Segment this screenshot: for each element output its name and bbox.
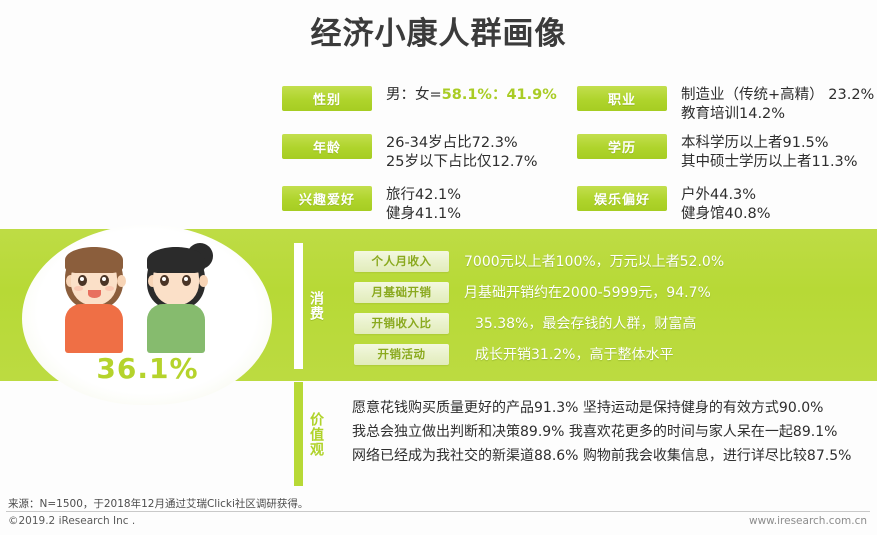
gender-ratio-highlight: 58.1%：41.9% bbox=[442, 87, 557, 103]
consumption-row: 月基础开销 月基础开销约在2000-5999元，94.7% bbox=[354, 281, 874, 303]
attribute-label-entertainment: 娱乐偏好 bbox=[577, 186, 667, 211]
attribute-line: 户外44.3% bbox=[681, 186, 771, 205]
values-line: 我总会独立做出判断和决策89.9% 我喜欢花更多的时间与家人呆在一起89.1% bbox=[352, 420, 877, 444]
eye-shape bbox=[78, 275, 87, 286]
attribute-label-gender: 性别 bbox=[282, 86, 372, 111]
ear-shape bbox=[117, 275, 126, 287]
top-attributes-grid: 性别 男：女=58.1%：41.9% 年龄 26-34岁占比72.3% 25岁以… bbox=[282, 86, 877, 226]
values-line: 愿意花钱购买质量更好的产品91.3% 坚持运动是保持健身的有效方式90.0% bbox=[352, 396, 877, 420]
gender-prefix: 男：女= bbox=[386, 87, 442, 103]
avatar-group bbox=[55, 243, 240, 353]
attribute-line: 旅行42.1% bbox=[386, 186, 461, 205]
consumption-label-spend-activity: 开销活动 bbox=[354, 344, 449, 365]
category-tab-values-char: 价值观 bbox=[308, 412, 324, 457]
eye-shape bbox=[160, 275, 169, 286]
consumption-value-basic-spend: 月基础开销约在2000-5999元，94.7% bbox=[464, 282, 711, 302]
ear-shape bbox=[199, 275, 208, 287]
category-tab-consumption: 消费 bbox=[303, 263, 329, 349]
attribute-row-occupation: 职业 制造业（传统+高精） 23.2% 教育培训14.2% bbox=[577, 86, 874, 124]
consumption-row: 个人月收入 7000元以上者100%，万元以上者52.0% bbox=[354, 250, 874, 272]
blush-shape bbox=[74, 286, 83, 291]
infographic-page: 经济小康人群画像 性别 男：女=58.1%：41.9% 年龄 26-34岁占比7… bbox=[0, 0, 877, 535]
category-tab-consumption-char: 消费 bbox=[308, 291, 324, 321]
attribute-line: 25岁以下占比仅12.7% bbox=[386, 153, 538, 172]
attribute-row-gender: 性别 男：女=58.1%：41.9% bbox=[282, 86, 557, 111]
consumption-label-monthly-income: 个人月收入 bbox=[354, 251, 449, 272]
torso-shape bbox=[147, 304, 205, 353]
eye-shape bbox=[100, 275, 109, 286]
attribute-value-entertainment: 户外44.3% 健身馆40.8% bbox=[681, 186, 771, 224]
attribute-value-occupation: 制造业（传统+高精） 23.2% 教育培训14.2% bbox=[681, 86, 874, 124]
attribute-label-hobbies: 兴趣爱好 bbox=[282, 186, 372, 211]
attribute-line: 教育培训14.2% bbox=[681, 105, 874, 124]
attribute-line: 制造业（传统+高精） 23.2% bbox=[681, 86, 874, 105]
values-statements: 愿意花钱购买质量更好的产品91.3% 坚持运动是保持健身的有效方式90.0% 我… bbox=[352, 396, 877, 468]
attribute-value-hobbies: 旅行42.1% 健身41.1% bbox=[386, 186, 461, 224]
copyright-note: ©2019.2 iResearch Inc . bbox=[8, 515, 135, 527]
source-note: 来源：N=1500，于2018年12月通过艾瑞Clicki社区调研获得。 bbox=[8, 496, 308, 511]
male-avatar-icon bbox=[137, 243, 221, 353]
bangs-shape bbox=[65, 247, 123, 273]
consumption-value-monthly-income: 7000元以上者100%，万元以上者52.0% bbox=[464, 251, 724, 271]
attribute-label-age: 年龄 bbox=[282, 134, 372, 159]
consumption-rows: 个人月收入 7000元以上者100%，万元以上者52.0% 月基础开销 月基础开… bbox=[354, 250, 874, 375]
female-avatar-icon bbox=[55, 243, 139, 353]
attribute-line: 健身馆40.8% bbox=[681, 205, 771, 224]
consumption-value-spend-income-ratio: 35.38%，最会存钱的人群，财富高 bbox=[475, 313, 696, 333]
torso-shape bbox=[65, 304, 123, 353]
attribute-value-gender: 男：女=58.1%：41.9% bbox=[386, 86, 557, 105]
consumption-value-spend-activity: 成长开销31.2%，高于整体水平 bbox=[475, 344, 673, 364]
consumption-label-basic-spend: 月基础开销 bbox=[354, 282, 449, 303]
blush-shape bbox=[105, 286, 114, 291]
attribute-value-education: 本科学历以上者91.5% 其中硕士学历以上者11.3% bbox=[681, 134, 858, 172]
website-url: www.iresearch.com.cn bbox=[749, 515, 867, 527]
category-tab-values: 价值观 bbox=[303, 396, 329, 472]
attribute-row-education: 学历 本科学历以上者91.5% 其中硕士学历以上者11.3% bbox=[577, 134, 858, 172]
attribute-line: 健身41.1% bbox=[386, 205, 461, 224]
page-title: 经济小康人群画像 bbox=[0, 8, 877, 53]
footer-divider bbox=[6, 511, 870, 512]
attribute-row-age: 年龄 26-34岁占比72.3% 25岁以下占比仅12.7% bbox=[282, 134, 538, 172]
attribute-line: 26-34岁占比72.3% bbox=[386, 134, 538, 153]
attribute-line: 本科学历以上者91.5% bbox=[681, 134, 858, 153]
attribute-line: 其中硕士学历以上者11.3% bbox=[681, 153, 858, 172]
values-line: 网络已经成为我社交的新渠道88.6% 购物前我会收集信息，进行详尽比较87.5% bbox=[352, 444, 877, 468]
consumption-row: 开销活动 成长开销31.2%，高于整体水平 bbox=[354, 343, 874, 365]
attribute-label-education: 学历 bbox=[577, 134, 667, 159]
mouth-shape bbox=[88, 290, 101, 298]
consumption-row: 开销收入比 35.38%，最会存钱的人群，财富高 bbox=[354, 312, 874, 334]
attribute-label-occupation: 职业 bbox=[577, 86, 667, 111]
consumption-label-spend-income-ratio: 开销收入比 bbox=[354, 313, 449, 334]
bangs-shape bbox=[147, 247, 205, 273]
eye-shape bbox=[182, 275, 191, 286]
attribute-value-age: 26-34岁占比72.3% 25岁以下占比仅12.7% bbox=[386, 134, 538, 172]
attribute-row-hobbies: 兴趣爱好 旅行42.1% 健身41.1% bbox=[282, 186, 461, 224]
attribute-row-entertainment: 娱乐偏好 户外44.3% 健身馆40.8% bbox=[577, 186, 771, 224]
attribute-line: 男：女=58.1%：41.9% bbox=[386, 86, 557, 105]
portrait-percentage: 36.1% bbox=[55, 352, 240, 385]
